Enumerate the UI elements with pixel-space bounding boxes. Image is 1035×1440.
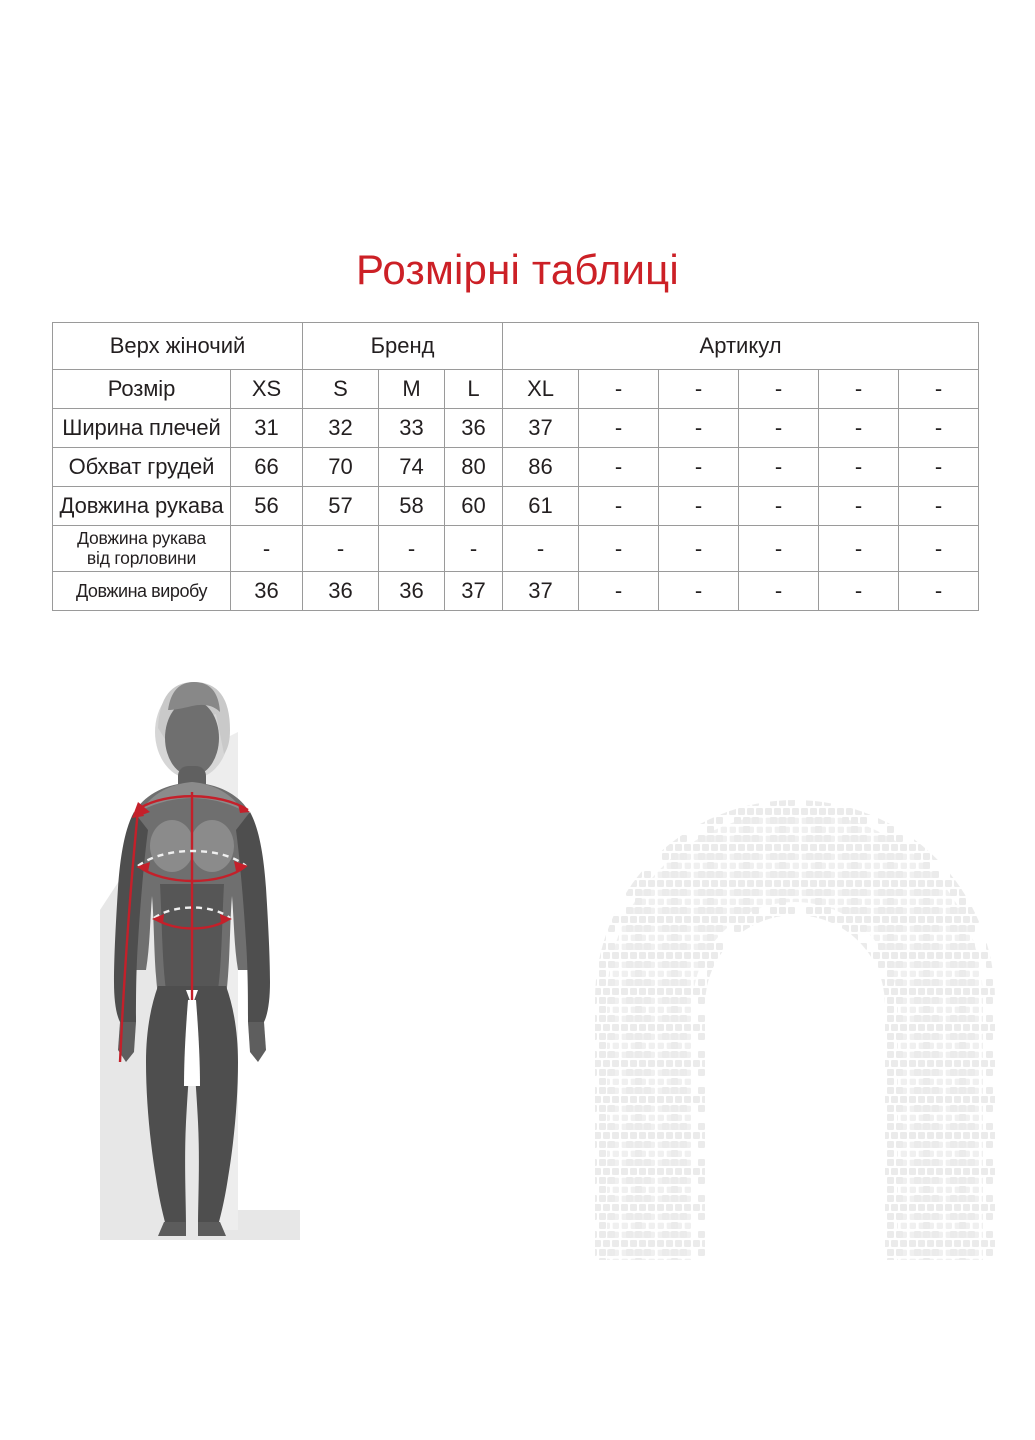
header-category: Верх жіночий bbox=[53, 323, 303, 370]
table-row: Довжина рукава 56 57 58 60 61 - - - - - bbox=[53, 487, 979, 526]
cell-length-10: - bbox=[899, 572, 979, 611]
cell-shoulder-m: 33 bbox=[379, 409, 445, 448]
cell-bust-6: - bbox=[579, 448, 659, 487]
ukrainian-cross-stitch-arch-pattern-icon bbox=[585, 790, 1005, 1260]
row-label-bust: Обхват грудей bbox=[53, 448, 231, 487]
table-row: Розмір XS S M L XL - - - - - bbox=[53, 370, 979, 409]
cell-bust-l: 80 bbox=[445, 448, 503, 487]
cell-shoulder-8: - bbox=[739, 409, 819, 448]
cell-sleeve-neck-9: - bbox=[819, 526, 899, 572]
cell-sleeve-neck-xl: - bbox=[503, 526, 579, 572]
cell-size-m: M bbox=[379, 370, 445, 409]
cell-sleeve-9: - bbox=[819, 487, 899, 526]
row-label-line-1: Довжина рукава bbox=[77, 528, 206, 548]
cell-sleeve-8: - bbox=[739, 487, 819, 526]
cell-size-s: S bbox=[303, 370, 379, 409]
cell-shoulder-xl: 37 bbox=[503, 409, 579, 448]
female-mannequin-diagram bbox=[88, 670, 368, 1250]
cell-shoulder-9: - bbox=[819, 409, 899, 448]
cell-bust-s: 70 bbox=[303, 448, 379, 487]
cell-size-l: L bbox=[445, 370, 503, 409]
row-label-shoulder-width: Ширина плечей bbox=[53, 409, 231, 448]
cell-sleeve-neck-8: - bbox=[739, 526, 819, 572]
cell-bust-7: - bbox=[659, 448, 739, 487]
cell-length-m: 36 bbox=[379, 572, 445, 611]
cell-size-9: - bbox=[819, 370, 899, 409]
cell-sleeve-neck-m: - bbox=[379, 526, 445, 572]
row-label-product-length: Довжина виробу bbox=[53, 572, 231, 611]
size-table: Верх жіночий Бренд Артикул Розмір XS S M… bbox=[52, 322, 979, 611]
cell-length-8: - bbox=[739, 572, 819, 611]
row-label-line-2: від горловини bbox=[87, 548, 196, 568]
cell-bust-9: - bbox=[819, 448, 899, 487]
page-title: Розмірні таблиці bbox=[0, 249, 1035, 291]
cell-bust-8: - bbox=[739, 448, 819, 487]
cell-shoulder-7: - bbox=[659, 409, 739, 448]
cell-length-s: 36 bbox=[303, 572, 379, 611]
size-table-container: Верх жіночий Бренд Артикул Розмір XS S M… bbox=[52, 322, 978, 611]
cell-shoulder-l: 36 bbox=[445, 409, 503, 448]
header-brand: Бренд bbox=[303, 323, 503, 370]
table-row: Довжина виробу 36 36 36 37 37 - - - - - bbox=[53, 572, 979, 611]
cell-size-7: - bbox=[659, 370, 739, 409]
cell-size-8: - bbox=[739, 370, 819, 409]
cell-size-xl: XL bbox=[503, 370, 579, 409]
cell-length-l: 37 bbox=[445, 572, 503, 611]
cell-sleeve-s: 57 bbox=[303, 487, 379, 526]
cell-sleeve-neck-10: - bbox=[899, 526, 979, 572]
cell-sleeve-10: - bbox=[899, 487, 979, 526]
table-header-row: Верх жіночий Бренд Артикул bbox=[53, 323, 979, 370]
table-row: Обхват грудей 66 70 74 80 86 - - - - - bbox=[53, 448, 979, 487]
cell-length-9: - bbox=[819, 572, 899, 611]
cell-bust-xs: 66 bbox=[231, 448, 303, 487]
cell-sleeve-l: 60 bbox=[445, 487, 503, 526]
cell-length-7: - bbox=[659, 572, 739, 611]
cell-shoulder-10: - bbox=[899, 409, 979, 448]
illustration-area bbox=[0, 640, 1035, 1260]
table-row: Ширина плечей 31 32 33 36 37 - - - - - bbox=[53, 409, 979, 448]
cell-sleeve-neck-7: - bbox=[659, 526, 739, 572]
row-label-sleeve-from-neckline: Довжина рукававід горловини bbox=[53, 526, 231, 572]
cell-sleeve-neck-s: - bbox=[303, 526, 379, 572]
cell-sleeve-neck-l: - bbox=[445, 526, 503, 572]
cell-sleeve-neck-xs: - bbox=[231, 526, 303, 572]
cell-shoulder-xs: 31 bbox=[231, 409, 303, 448]
cell-bust-m: 74 bbox=[379, 448, 445, 487]
cell-sleeve-7: - bbox=[659, 487, 739, 526]
cell-shoulder-6: - bbox=[579, 409, 659, 448]
header-article: Артикул bbox=[503, 323, 979, 370]
cell-sleeve-m: 58 bbox=[379, 487, 445, 526]
cell-length-xs: 36 bbox=[231, 572, 303, 611]
embroidery-arch-inner-band bbox=[585, 790, 1005, 1260]
cell-sleeve-6: - bbox=[579, 487, 659, 526]
cell-shoulder-s: 32 bbox=[303, 409, 379, 448]
row-label-sleeve-length: Довжина рукава bbox=[53, 487, 231, 526]
cell-length-xl: 37 bbox=[503, 572, 579, 611]
cell-sleeve-xs: 56 bbox=[231, 487, 303, 526]
cell-bust-10: - bbox=[899, 448, 979, 487]
cell-sleeve-neck-6: - bbox=[579, 526, 659, 572]
row-label-size: Розмір bbox=[53, 370, 231, 409]
cell-bust-xl: 86 bbox=[503, 448, 579, 487]
table-row: Довжина рукававід горловини - - - - - - … bbox=[53, 526, 979, 572]
cell-size-10: - bbox=[899, 370, 979, 409]
cell-size-xs: XS bbox=[231, 370, 303, 409]
cell-size-6: - bbox=[579, 370, 659, 409]
cell-sleeve-xl: 61 bbox=[503, 487, 579, 526]
cell-length-6: - bbox=[579, 572, 659, 611]
